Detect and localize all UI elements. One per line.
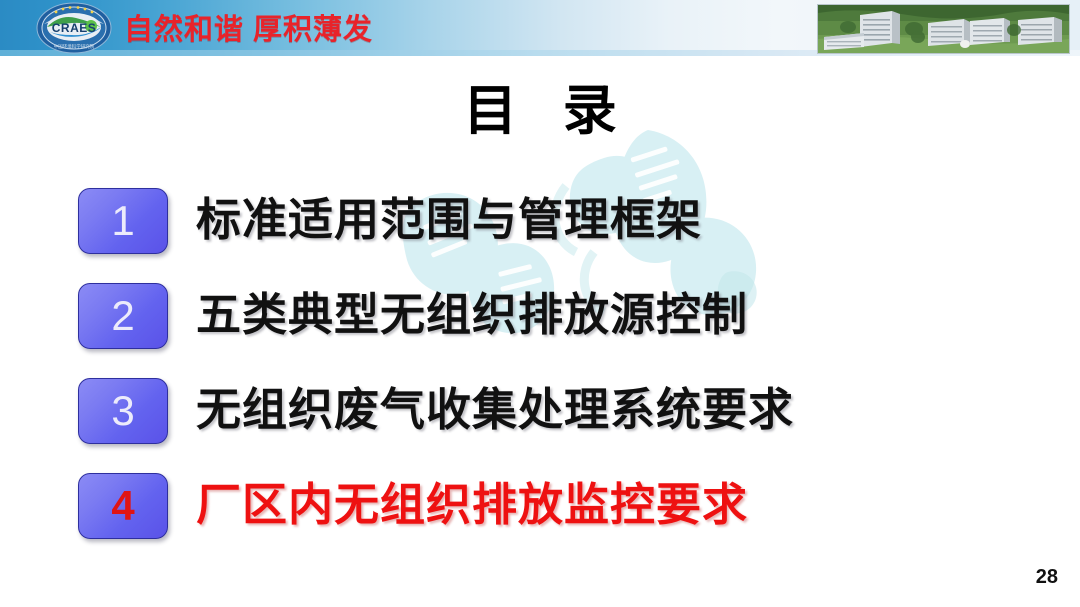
toc-item-label: 厂区内无组织排放监控要求 bbox=[196, 467, 748, 543]
list-item-active[interactable]: 4 厂区内无组织排放监控要求 bbox=[0, 469, 1080, 564]
campus-aerial-photo bbox=[817, 4, 1070, 54]
toc-number-badge: 3 bbox=[78, 378, 168, 444]
toc-number-label: 2 bbox=[79, 284, 167, 350]
page-number: 28 bbox=[1036, 566, 1058, 589]
craes-logo-icon: CRAES 中国环境科学研究院 bbox=[36, 2, 112, 54]
toc-number-label: 4 bbox=[79, 474, 167, 540]
list-item[interactable]: 2 五类典型无组织排放源控制 bbox=[0, 279, 1080, 374]
svg-text:CRAES: CRAES bbox=[52, 21, 97, 35]
toc-number-label: 1 bbox=[79, 189, 167, 255]
list-item[interactable]: 3 无组织废气收集处理系统要求 bbox=[0, 374, 1080, 469]
toc-item-label: 五类典型无组织排放源控制 bbox=[196, 277, 748, 353]
toc-number-badge: 2 bbox=[78, 283, 168, 349]
header-slogan: 自然和谐 厚积薄发 bbox=[124, 12, 373, 48]
page-title: 目 录 bbox=[0, 66, 1080, 145]
svg-text:中国环境科学研究院: 中国环境科学研究院 bbox=[54, 43, 95, 50]
toc-number-badge: 4 bbox=[78, 473, 168, 539]
toc-number-label: 3 bbox=[79, 379, 167, 445]
table-of-contents: 1 标准适用范围与管理框架 2 五类典型无组织排放源控制 3 无组织废气收集处理… bbox=[0, 184, 1080, 564]
list-item[interactable]: 1 标准适用范围与管理框架 bbox=[0, 184, 1080, 279]
presentation-slide: CRAES 中国环境科学研究院 自然和谐 厚积薄发 bbox=[0, 0, 1080, 607]
toc-item-label: 无组织废气收集处理系统要求 bbox=[196, 372, 794, 448]
toc-number-badge: 1 bbox=[78, 188, 168, 254]
toc-item-label: 标准适用范围与管理框架 bbox=[196, 182, 702, 258]
